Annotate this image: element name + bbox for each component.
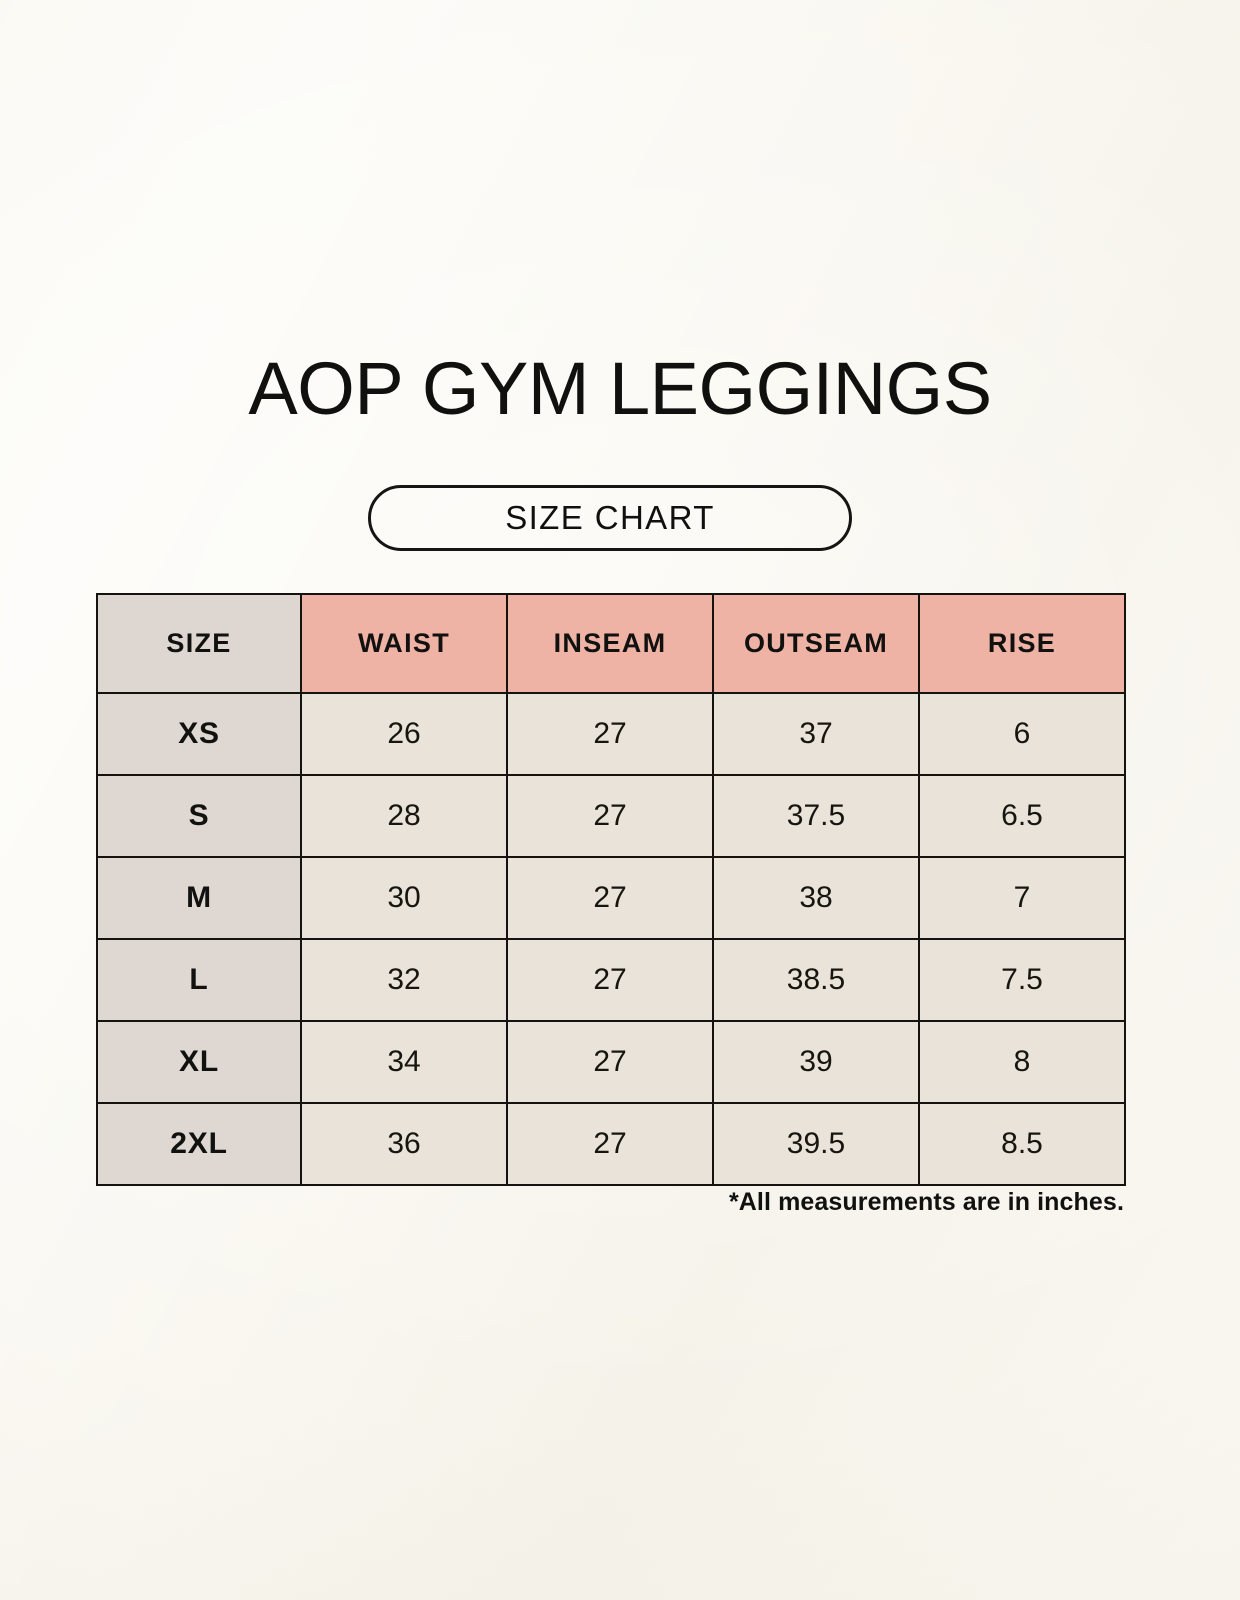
cell-rise: 7.5: [919, 939, 1125, 1021]
cell-size: S: [97, 775, 301, 857]
cell-size: L: [97, 939, 301, 1021]
column-header-size: SIZE: [97, 594, 301, 693]
cell-outseam: 38: [713, 857, 919, 939]
cell-size: M: [97, 857, 301, 939]
cell-inseam: 27: [507, 857, 713, 939]
column-header-waist: WAIST: [301, 594, 507, 693]
cell-rise: 8.5: [919, 1103, 1125, 1185]
table-header-row: SIZE WAIST INSEAM OUTSEAM RISE: [97, 594, 1125, 693]
column-header-inseam: INSEAM: [507, 594, 713, 693]
size-chart-table: SIZE WAIST INSEAM OUTSEAM RISE XS 26 27 …: [96, 593, 1126, 1186]
cell-waist: 34: [301, 1021, 507, 1103]
cell-outseam: 39: [713, 1021, 919, 1103]
column-header-rise: RISE: [919, 594, 1125, 693]
cell-outseam: 38.5: [713, 939, 919, 1021]
table-header: SIZE WAIST INSEAM OUTSEAM RISE: [97, 594, 1125, 693]
table-row: XL 34 27 39 8: [97, 1021, 1125, 1103]
cell-rise: 6.5: [919, 775, 1125, 857]
table-row: S 28 27 37.5 6.5: [97, 775, 1125, 857]
table-row: M 30 27 38 7: [97, 857, 1125, 939]
size-table-wrapper: SIZE WAIST INSEAM OUTSEAM RISE XS 26 27 …: [96, 593, 1124, 1186]
cell-inseam: 27: [507, 775, 713, 857]
cell-outseam: 37: [713, 693, 919, 775]
measurement-units-note: *All measurements are in inches.: [96, 1188, 1124, 1217]
cell-inseam: 27: [507, 693, 713, 775]
cell-inseam: 27: [507, 939, 713, 1021]
cell-waist: 32: [301, 939, 507, 1021]
cell-outseam: 37.5: [713, 775, 919, 857]
size-chart-badge: SIZE CHART: [368, 485, 852, 551]
table-row: L 32 27 38.5 7.5: [97, 939, 1125, 1021]
cell-rise: 6: [919, 693, 1125, 775]
cell-size: XL: [97, 1021, 301, 1103]
cell-waist: 26: [301, 693, 507, 775]
cell-size: 2XL: [97, 1103, 301, 1185]
cell-waist: 36: [301, 1103, 507, 1185]
cell-waist: 28: [301, 775, 507, 857]
page-title: AOP GYM LEGGINGS: [0, 352, 1240, 426]
column-header-outseam: OUTSEAM: [713, 594, 919, 693]
size-chart-badge-label: SIZE CHART: [505, 499, 715, 537]
cell-rise: 8: [919, 1021, 1125, 1103]
table-body: XS 26 27 37 6 S 28 27 37.5 6.5 M 30 27: [97, 693, 1125, 1185]
cell-waist: 30: [301, 857, 507, 939]
cell-inseam: 27: [507, 1103, 713, 1185]
cell-outseam: 39.5: [713, 1103, 919, 1185]
cell-size: XS: [97, 693, 301, 775]
table-row: 2XL 36 27 39.5 8.5: [97, 1103, 1125, 1185]
table-row: XS 26 27 37 6: [97, 693, 1125, 775]
cell-inseam: 27: [507, 1021, 713, 1103]
cell-rise: 7: [919, 857, 1125, 939]
